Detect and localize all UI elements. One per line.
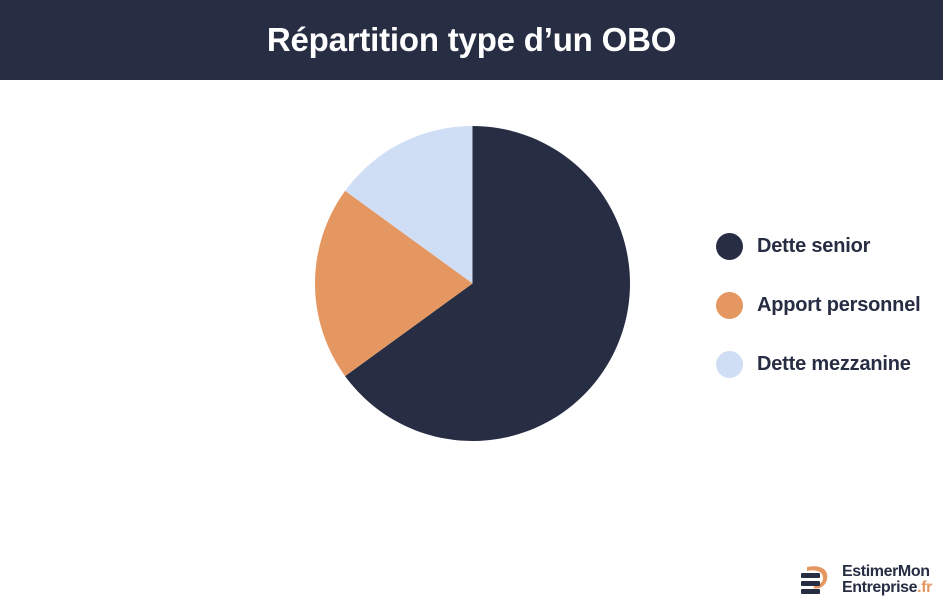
chart-canvas: Dette senior Apport personnel Dette mezz… (0, 80, 943, 530)
chart-legend: Dette senior Apport personnel Dette mezz… (716, 217, 920, 394)
legend-label-dette-senior: Dette senior (757, 235, 870, 258)
chart-header-band: Répartition type d’un OBO (0, 0, 943, 80)
logo-tld: .fr (917, 579, 932, 596)
pie-chart-svg (315, 126, 630, 441)
page-title: Répartition type d’un OBO (267, 21, 676, 59)
legend-item-apport-personnel[interactable]: Apport personnel (716, 276, 920, 335)
legend-swatch-apport-personnel (716, 292, 743, 319)
legend-label-apport-personnel: Apport personnel (757, 294, 920, 317)
pie-chart (315, 126, 630, 441)
logo-line-2: Entreprise.fr (842, 580, 932, 596)
logo-line-2-text: Entreprise (842, 579, 917, 596)
legend-label-dette-mezzanine: Dette mezzanine (757, 353, 911, 376)
logo-mark-icon (797, 561, 835, 599)
legend-swatch-dette-senior (716, 233, 743, 260)
logo-wordmark: EstimerMon Entreprise.fr (842, 564, 932, 597)
logo-line-1: EstimerMon (842, 564, 932, 580)
brand-logo[interactable]: EstimerMon Entreprise.fr (797, 561, 932, 599)
legend-swatch-dette-mezzanine (716, 351, 743, 378)
legend-item-dette-mezzanine[interactable]: Dette mezzanine (716, 335, 920, 394)
legend-item-dette-senior[interactable]: Dette senior (716, 217, 920, 276)
